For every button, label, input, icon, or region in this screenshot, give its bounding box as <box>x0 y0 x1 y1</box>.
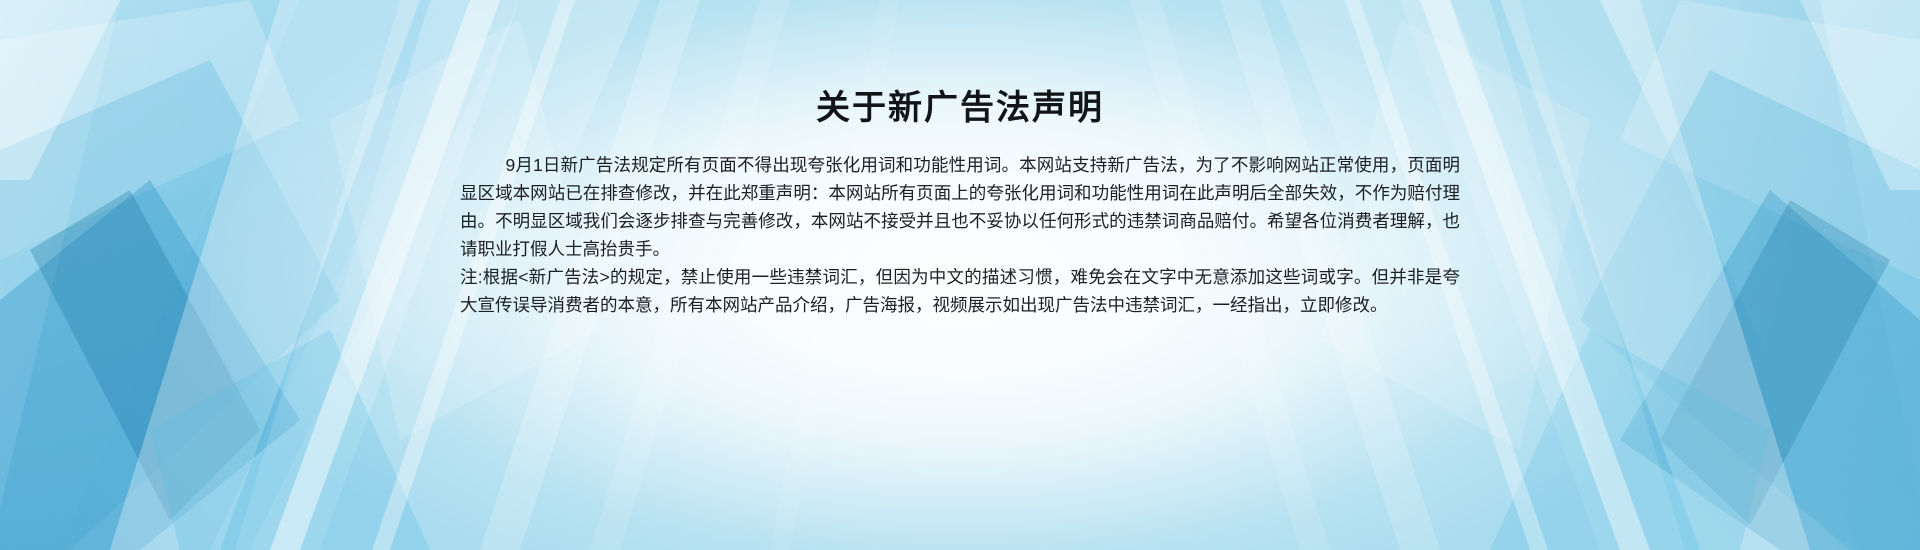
statement-paragraph-2: 注:根据<新广告法>的规定，禁止使用一些违禁词汇，但因为中文的描述习惯，难免会在… <box>460 263 1460 319</box>
statement-body: 9月1日新广告法规定所有页面不得出现夸张化用词和功能性用词。本网站支持新广告法，… <box>460 151 1460 319</box>
page-title: 关于新广告法声明 <box>816 88 1104 129</box>
banner-content: 关于新广告法声明 9月1日新广告法规定所有页面不得出现夸张化用词和功能性用词。本… <box>0 0 1920 550</box>
statement-paragraph-1: 9月1日新广告法规定所有页面不得出现夸张化用词和功能性用词。本网站支持新广告法，… <box>460 151 1460 263</box>
